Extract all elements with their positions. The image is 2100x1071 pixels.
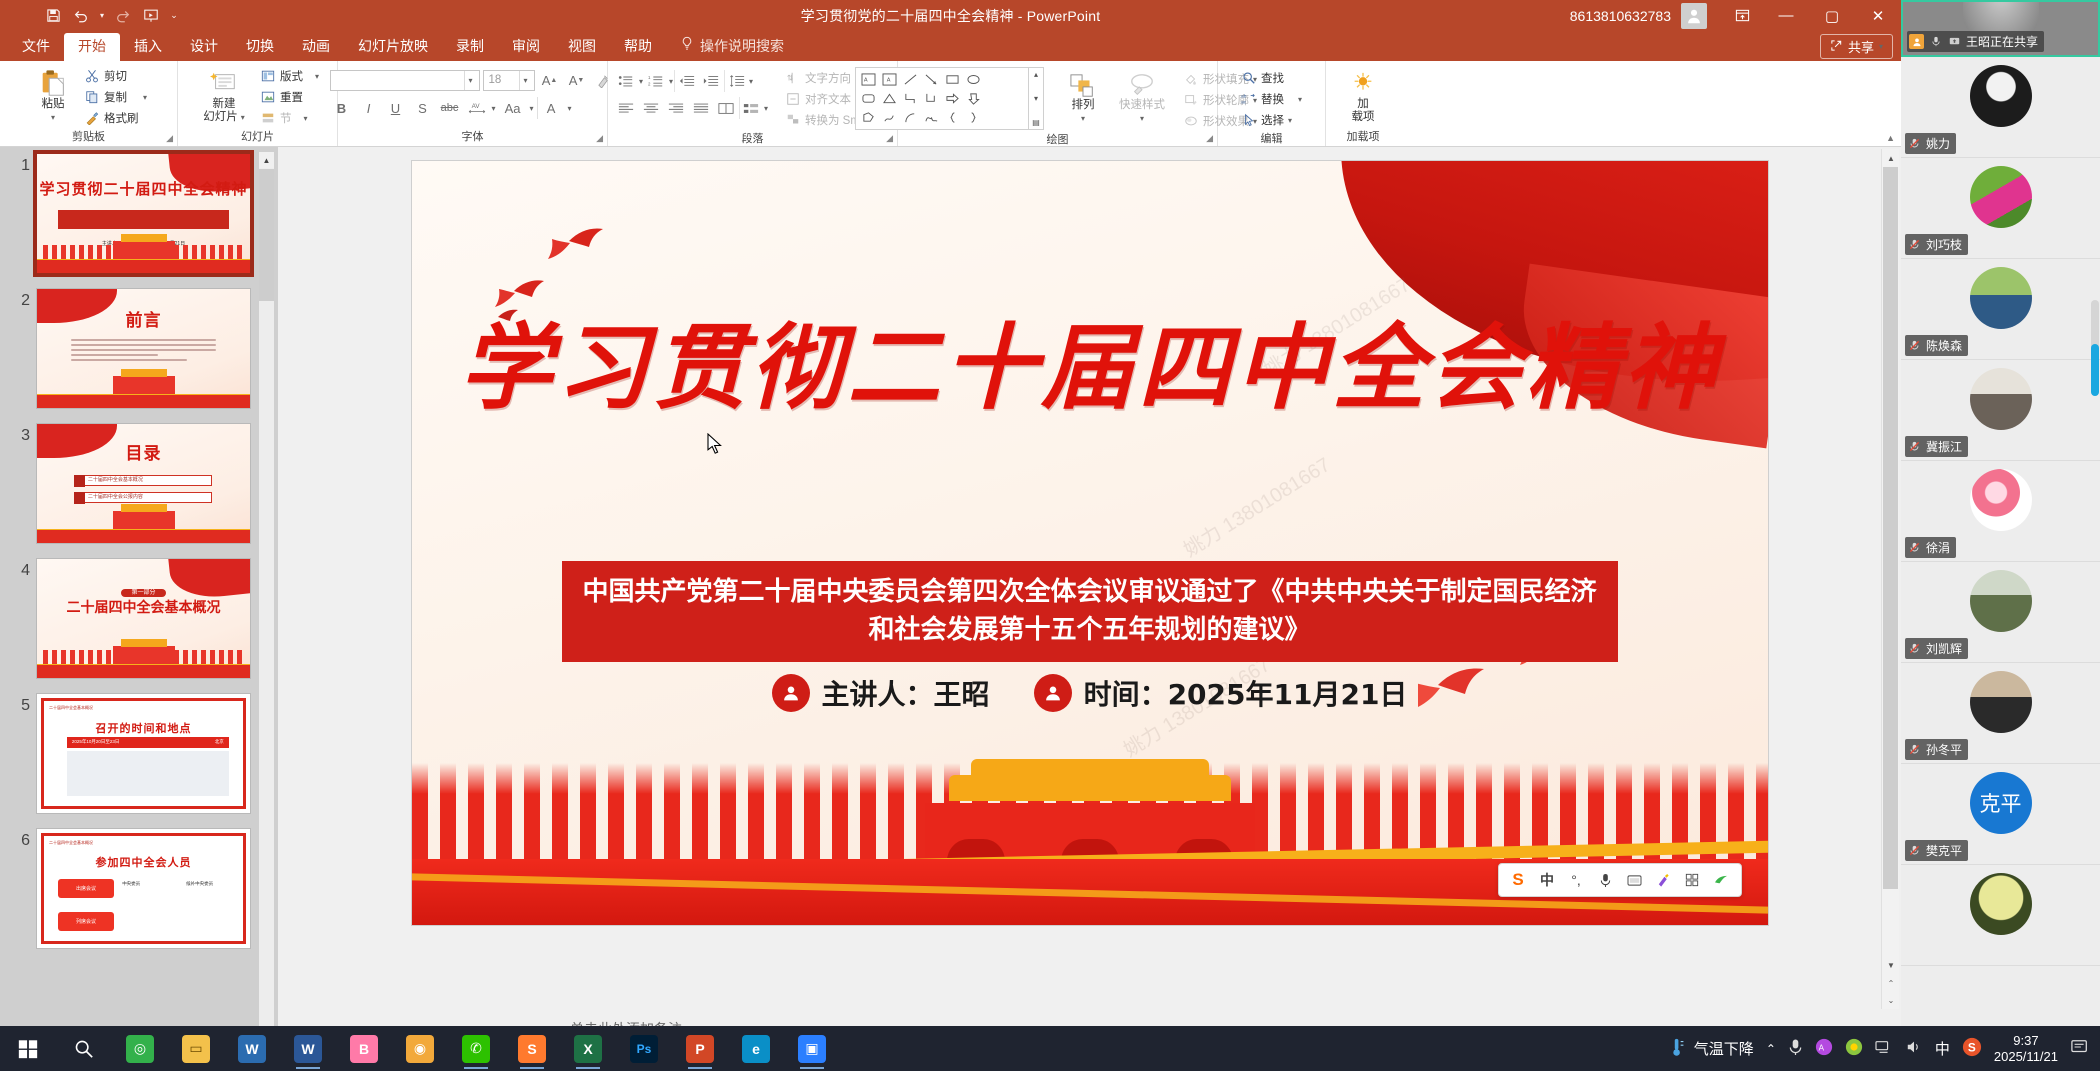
ribbon-group-font: ▾ 18 ▾ A▲ A▼ B I U [338, 61, 608, 146]
participant-tile[interactable]: 姚力 [1901, 57, 2100, 158]
maximize-button[interactable]: ▢ [1809, 0, 1855, 31]
speaker-info[interactable]: 主讲人：王昭 [772, 673, 990, 713]
thumbnail-slide-4[interactable]: 第一部分 二十届四中全会基本概况 [36, 558, 251, 679]
paragraph-dialog-launcher[interactable]: ◢ [886, 133, 893, 144]
browser-360-icon: ◎ [126, 1035, 154, 1063]
windows-taskbar: ◎ ▭ W W B ◉ ✆ S X [0, 1026, 2100, 1071]
shape-arc-icon[interactable] [900, 108, 921, 127]
sharing-label: 王昭正在共享 [1966, 33, 2038, 50]
shape-rectangle-icon[interactable] [942, 70, 963, 89]
thumbnail-slide-1[interactable]: 学习贯彻二十届四中全会精神 主讲人：王昭 时间：2025年11月21日 [36, 153, 251, 274]
new-slide-label-2: 幻灯片 [203, 111, 238, 124]
search-icon [70, 1035, 98, 1063]
shape-textbox-icon[interactable]: A [858, 70, 879, 89]
tab-view[interactable]: 视图 [554, 33, 610, 61]
reset-label: 重置 [280, 89, 303, 105]
shape-curve-icon[interactable] [921, 108, 942, 127]
avatar [1970, 873, 2032, 935]
more-shapes-icon[interactable]: ▤ [1032, 118, 1040, 127]
ribbon-group-addins: 加 载项 加载项 [1326, 61, 1400, 146]
scroll-up-icon[interactable]: ▲ [1884, 150, 1898, 166]
skin-icon[interactable] [1650, 867, 1677, 893]
format-painter-label: 格式刷 [104, 110, 139, 126]
participant-tag: 刘巧枝 [1905, 234, 1968, 255]
slide-editor-pane: 姚力 13801081667 姚力 13801081667 姚力 1380108… [278, 147, 1901, 1071]
participant-name: 徐涓 [1926, 539, 1950, 556]
volume-icon[interactable] [1905, 1039, 1923, 1058]
paste-button[interactable]: 粘贴 ▾ [27, 66, 79, 126]
taskbar-app-edge[interactable]: e [728, 1026, 784, 1071]
participant-tile[interactable]: 刘巧枝 [1901, 158, 2100, 259]
chevron-down-icon: ▾ [1879, 42, 1883, 51]
text-direction-icon: ⇅ [785, 70, 801, 86]
tab-transitions[interactable]: 切换 [232, 33, 288, 61]
scrollbar-thumb[interactable] [1883, 167, 1898, 889]
thumbnail-item[interactable]: 6 二十届四中全会基本概况 参加四中全会人员 出席会议 列席会议 中央委员 候补… [8, 828, 256, 949]
new-slide-label-1: 新建 [212, 98, 235, 111]
search-icon [1241, 70, 1257, 86]
shape-vertical-textbox-icon[interactable]: A [879, 70, 900, 89]
format-painter-icon [84, 110, 100, 126]
font-name-combo[interactable]: ▾ [330, 70, 480, 91]
decrease-indent-icon[interactable] [674, 70, 698, 92]
slide-subtitle[interactable]: 中国共产党第二十届中央委员会第四次全体会议审议通过了《中共中央关于制定国民经济和… [562, 561, 1618, 662]
participant-tag: 冀振江 [1905, 436, 1968, 457]
scrollbar-thumb[interactable] [2091, 344, 2099, 396]
layout-label: 版式 [280, 68, 303, 84]
edge-icon: e [742, 1035, 770, 1063]
group-label-clipboard: 剪贴板 ◢ [6, 128, 171, 146]
taskbar-clock[interactable]: 9:37 2025/11/21 [1994, 1033, 2058, 1065]
avatar [1970, 570, 2032, 632]
bilibili-icon: B [350, 1035, 378, 1063]
thumb5-title: 召开的时间和地点 [37, 720, 250, 736]
svg-text:A: A [864, 77, 868, 83]
drawing-dialog-launcher[interactable]: ◢ [1206, 133, 1213, 144]
group-label-slides: 幻灯片 [184, 128, 331, 146]
scrollbar-thumb[interactable] [259, 169, 274, 301]
thumb4-title: 二十届四中全会基本概况 [37, 597, 250, 617]
sogou-logo-icon[interactable]: S [1505, 867, 1532, 893]
search-button[interactable] [56, 1026, 112, 1071]
clock-date: 2025/11/21 [1994, 1049, 2058, 1065]
thumbnail-item[interactable]: 3 目录 二十届四中全会基本概况 二十届四中全会公报内容 [8, 423, 256, 544]
network-icon[interactable] [1875, 1039, 1893, 1058]
svg-text:A: A [1818, 1044, 1824, 1053]
thumbnail-slide-6[interactable]: 二十届四中全会基本概况 参加四中全会人员 出席会议 列席会议 中央委员 候补中央… [36, 828, 251, 949]
arrange-button[interactable]: 排列 ▾ [1056, 67, 1110, 127]
shape-line-icon[interactable] [900, 70, 921, 89]
addins-button[interactable]: 加 载项 [1337, 66, 1389, 126]
shape-rounded-rect-icon[interactable] [858, 89, 879, 108]
dove-decoration-icon [474, 213, 634, 323]
speaker-label: 主讲人：王昭 [822, 673, 990, 713]
title-bar-right: 8613810632783 — ▢ ✕ [1570, 0, 1901, 31]
group-label-addins: 加载项 [1332, 128, 1394, 146]
next-slide-icon[interactable]: ⌄ [1884, 992, 1898, 1008]
participant-name: 冀振江 [1926, 438, 1962, 455]
underline-icon[interactable]: U [384, 97, 408, 119]
thumb6-header: 二十届四中全会基本概况 [49, 840, 93, 846]
participant-tile[interactable]: 徐涓 [1901, 461, 2100, 562]
thumb5-bar-right: 北京 [215, 739, 224, 745]
antivirus-icon[interactable]: A [1815, 1038, 1833, 1059]
participant-tag: 孙冬平 [1905, 739, 1968, 760]
numbering-icon[interactable]: 12 [644, 70, 668, 92]
change-case-icon[interactable]: Aa [499, 97, 527, 119]
thumbnail-slide-3[interactable]: 目录 二十届四中全会基本概况 二十届四中全会公报内容 [36, 423, 251, 544]
new-slide-button[interactable]: 新建 幻灯片▾ [193, 66, 255, 126]
align-left-icon[interactable] [614, 97, 638, 119]
cut-label: 剪切 [104, 68, 127, 84]
mic-muted-icon [1907, 136, 1922, 151]
current-slide[interactable]: 姚力 13801081667 姚力 13801081667 姚力 1380108… [412, 161, 1768, 925]
360-icon[interactable] [1845, 1038, 1863, 1059]
find-label: 查找 [1261, 70, 1284, 86]
mic-muted-icon [1907, 237, 1922, 252]
avatar [1970, 267, 2032, 329]
new-slide-icon [209, 68, 239, 98]
cut-button[interactable]: 剪切 [81, 66, 150, 86]
participant-name: 孙冬平 [1926, 741, 1962, 758]
shape-right-brace-icon[interactable] [963, 108, 984, 127]
font-color-icon[interactable]: A [537, 97, 565, 119]
tab-file[interactable]: 文件 [8, 33, 64, 61]
copy-button[interactable]: 复制 ▾ [81, 87, 150, 107]
section-label: 节 [280, 110, 292, 126]
justify-icon[interactable] [689, 97, 713, 119]
participant-tile[interactable]: 刘凯辉 [1901, 562, 2100, 663]
shapes-scroll-controls[interactable]: ▴ ▾ ▤ [1029, 67, 1044, 130]
slide-title[interactable]: 学习贯彻二十届四中全会精神 [412, 321, 1768, 414]
group-label-editing: 编辑 [1224, 130, 1319, 148]
participant-tile[interactable]: 孙冬平 [1901, 663, 2100, 764]
taskbar-tray: 气温下降 ⌃ A 中 S 9:37 2025 [1669, 1026, 2100, 1071]
thumb6-tag-1: 出席会议 [58, 879, 113, 898]
redo-icon[interactable] [110, 4, 136, 28]
columns-icon[interactable] [714, 97, 738, 119]
thumbnail-number: 3 [8, 423, 30, 445]
quick-styles-icon [1127, 69, 1157, 99]
time-info[interactable]: 时间：2025年11月21日 [1034, 673, 1408, 713]
emoji-icon[interactable] [1708, 867, 1735, 893]
thumb6-title: 参加四中全会人员 [37, 854, 250, 870]
browser-icon: ◉ [406, 1035, 434, 1063]
avatar [1970, 671, 2032, 733]
tencent-meeting-icon: ▣ [798, 1035, 826, 1063]
windows-logo-icon [14, 1035, 42, 1063]
tab-insert[interactable]: 插入 [120, 33, 176, 61]
undo-dropdown-icon[interactable]: ▾ [96, 4, 108, 28]
participant-tile[interactable] [1901, 865, 2100, 966]
ribbon: 粘贴 ▾ 剪切 复制 ▾ [0, 61, 1901, 147]
share-button[interactable]: 共享 ▾ [1820, 34, 1893, 59]
slide-thumbnails-pane[interactable]: 1 学习贯彻二十届四中全会精神 主讲人：王昭 时间：2025年11月21日 [0, 147, 278, 1071]
ribbon-display-options-icon[interactable] [1721, 0, 1763, 31]
thumb6-tag-2: 列席会议 [58, 912, 113, 931]
taskbar-app-file-explorer[interactable]: ▭ [168, 1026, 224, 1071]
shape-arrow-icon[interactable] [921, 70, 942, 89]
customize-qat-icon[interactable]: ⌄ [166, 4, 182, 28]
shape-oval-icon[interactable] [963, 70, 984, 89]
thumb6-l2: 候补中央委员 [186, 881, 213, 887]
grid-icon[interactable] [1679, 867, 1706, 893]
taskbar-app-wps[interactable]: W [224, 1026, 280, 1071]
taskbar-app-wechat[interactable]: ✆ [448, 1026, 504, 1071]
file-explorer-icon: ▭ [182, 1035, 210, 1063]
chevron-down-icon[interactable]: ▾ [1034, 94, 1038, 103]
thumbnail-number: 1 [8, 153, 30, 175]
thumbnail-number: 2 [8, 288, 30, 310]
close-button[interactable]: ✕ [1855, 0, 1901, 31]
tab-design[interactable]: 设计 [176, 33, 232, 61]
svg-text:1: 1 [648, 75, 651, 80]
collapse-ribbon-icon[interactable]: ▲ [1886, 133, 1895, 143]
participants-scrollbar[interactable] [2091, 300, 2099, 396]
slide-meta: 主讲人：王昭 时间：2025年11月21日 [412, 673, 1768, 713]
chevron-up-icon[interactable]: ▴ [1034, 70, 1038, 79]
tab-record[interactable]: 录制 [442, 33, 498, 61]
account-name: 8613810632783 [1570, 8, 1671, 24]
sogou-icon: S [518, 1035, 546, 1063]
replace-button[interactable]: abac 替换 ▾ [1238, 89, 1305, 109]
chevron-up-icon[interactable]: ⌃ [1766, 1042, 1776, 1056]
scissors-icon [84, 68, 100, 84]
ime-indicator[interactable]: 中 [1935, 1038, 1950, 1059]
thumbnail-item[interactable]: 1 学习贯彻二十届四中全会精神 主讲人：王昭 时间：2025年11月21日 [8, 153, 256, 274]
participant-tile[interactable]: 陈焕森 [1901, 259, 2100, 360]
select-button[interactable]: 选择 ▾ [1238, 110, 1305, 130]
start-button[interactable] [0, 1026, 56, 1071]
tab-help[interactable]: 帮助 [610, 33, 666, 61]
wps-icon: W [238, 1035, 266, 1063]
mic-muted-icon [1907, 439, 1922, 454]
lightbulb-icon [680, 36, 694, 55]
participant-name: 樊克平 [1926, 842, 1962, 859]
find-button[interactable]: 查找 [1238, 68, 1305, 88]
keyboard-icon[interactable] [1621, 867, 1648, 893]
scroll-up-icon[interactable]: ▲ [259, 152, 274, 168]
weather-widget[interactable]: 气温下降 [1669, 1037, 1754, 1061]
shapes-gallery[interactable]: A A [855, 67, 1029, 130]
svg-text:⇅: ⇅ [787, 74, 794, 83]
minimize-button[interactable]: — [1763, 0, 1809, 31]
participant-tag: 徐涓 [1905, 537, 1956, 558]
sogou-tray-icon[interactable]: S [1962, 1037, 1982, 1060]
select-icon [1241, 112, 1257, 128]
ime-floating-toolbar[interactable]: S 中 °, [1498, 863, 1742, 897]
character-spacing-icon[interactable]: AV [465, 97, 489, 119]
reset-button[interactable]: 重置 [257, 87, 322, 107]
copy-label: 复制 [104, 89, 127, 105]
screen-share-tile[interactable]: 王昭正在共享 [1901, 0, 2100, 57]
shape-connector-icon[interactable] [921, 89, 942, 108]
mic-icon [1928, 34, 1943, 49]
line-spacing-icon[interactable] [724, 70, 748, 92]
taskbar-app-word[interactable]: W [280, 1026, 336, 1071]
smartart-convert-icon[interactable] [739, 97, 763, 119]
align-center-icon[interactable] [639, 97, 663, 119]
avatar-initials: 克平 [1980, 788, 2022, 818]
strikethrough-icon[interactable]: abc [438, 97, 462, 119]
thumbnail-item[interactable]: 5 二十届四中全会基本概况 召开的时间和地点 2025年10月20日至23日 北… [8, 693, 256, 814]
thumb2-title: 前言 [37, 306, 250, 331]
mic-muted-icon [1907, 742, 1922, 757]
mic-muted-icon [1907, 641, 1922, 656]
share-icon [1830, 39, 1843, 55]
chinese-mode-icon[interactable]: 中 [1534, 867, 1561, 893]
replace-icon: abac [1241, 91, 1257, 107]
copy-icon [84, 89, 100, 105]
avatar [1970, 65, 2032, 127]
thumbnail-number: 5 [8, 693, 30, 715]
increase-indent-icon[interactable] [699, 70, 723, 92]
participant-tile[interactable]: 冀振江 [1901, 360, 2100, 461]
powerpoint-window: ▾ ⌄ 学习贯彻党的二十届四中全会精神 - PowerPoint 8613810… [0, 0, 1901, 1071]
avatar [1970, 469, 2032, 531]
shape-right-arrow-icon[interactable] [942, 89, 963, 108]
taskbar-app-browser[interactable]: ◉ [392, 1026, 448, 1071]
arrange-icon [1069, 69, 1097, 99]
shape-freeform-icon[interactable] [858, 108, 879, 127]
word-icon: W [294, 1035, 322, 1063]
excel-icon: X [574, 1035, 602, 1063]
text-direction-label: 文字方向 [805, 70, 851, 86]
chevron-down-icon: ▾ [519, 71, 532, 90]
person-icon [772, 674, 810, 712]
taskbar-app-photoshop[interactable]: Ps [616, 1026, 672, 1071]
title-bar: ▾ ⌄ 学习贯彻党的二十届四中全会精神 - PowerPoint 8613810… [0, 0, 1901, 31]
slide-vertical-scrollbar[interactable]: ▲ ▼ ⌃ ⌄ [1881, 149, 1899, 1009]
taskbar-app-powerpoint[interactable]: P [672, 1026, 728, 1071]
tell-me-label: 操作说明搜索 [700, 37, 784, 55]
svg-text:2: 2 [648, 81, 651, 86]
thumbnail-number: 4 [8, 558, 30, 580]
notification-icon[interactable] [2070, 1038, 2090, 1059]
avatar [1970, 166, 2032, 228]
align-right-icon[interactable] [664, 97, 688, 119]
wechat-icon: ✆ [462, 1035, 490, 1063]
thumbnail-item[interactable]: 4 第一部分 二十届四中全会基本概况 [8, 558, 256, 679]
font-size-combo[interactable]: 18 ▾ [483, 70, 535, 91]
undo-icon[interactable] [68, 4, 94, 28]
chevron-down-icon: ▾ [464, 71, 477, 90]
ribbon-group-drawing: A A [898, 61, 1218, 146]
ribbon-group-slides: 新建 幻灯片▾ 版式 ▾ 重置 [178, 61, 338, 146]
thumb6-l1: 中央委员 [122, 881, 140, 887]
tab-home[interactable]: 开始 [64, 33, 120, 61]
shape-triangle-icon[interactable] [879, 89, 900, 108]
thumb1-title: 学习贯彻二十届四中全会精神 [37, 178, 250, 199]
svg-text:AV: AV [471, 103, 480, 110]
tab-animations[interactable]: 动画 [288, 33, 344, 61]
mic-icon[interactable] [1592, 867, 1619, 893]
group-label-font: 字体 ◢ [344, 128, 601, 146]
shape-outline-icon [1183, 92, 1199, 108]
ribbon-group-clipboard: 粘贴 ▾ 剪切 复制 ▾ [0, 61, 178, 146]
avatar: 克平 [1970, 772, 2032, 834]
participant-name: 陈焕森 [1926, 337, 1962, 354]
thumb3-title: 目录 [37, 439, 250, 464]
participant-tag: 樊克平 [1905, 840, 1968, 861]
shape-scribble-icon[interactable] [879, 108, 900, 127]
participant-name: 刘巧枝 [1926, 236, 1962, 253]
section-button[interactable]: 节 ▾ [257, 108, 322, 128]
save-icon[interactable] [40, 4, 66, 28]
mic-muted-icon [1907, 843, 1922, 858]
thumbnail-slide-5[interactable]: 二十届四中全会基本概况 召开的时间和地点 2025年10月20日至23日 北京 [36, 693, 251, 814]
section-icon [260, 110, 276, 126]
quick-access-toolbar: ▾ ⌄ [0, 4, 182, 28]
thumbnails-scrollbar[interactable]: ▲ ▼ [258, 151, 275, 1067]
thumbnail-slide-2[interactable]: 前言 [36, 288, 251, 409]
taskbar-app-excel[interactable]: X [560, 1026, 616, 1071]
shape-down-arrow-icon[interactable] [963, 89, 984, 108]
tab-review[interactable]: 审阅 [498, 33, 554, 61]
shape-elbow-connector-icon[interactable] [900, 89, 921, 108]
tell-me-search[interactable]: 操作说明搜索 [666, 32, 798, 61]
paste-icon [38, 68, 68, 98]
start-slideshow-icon[interactable] [138, 4, 164, 28]
ribbon-group-editing: 查找 abac 替换 ▾ 选择 ▾ 编辑 [1218, 61, 1326, 146]
chevron-down-icon[interactable]: ▾ [143, 93, 147, 102]
sharing-tag: 王昭正在共享 [1907, 31, 2044, 52]
taskbar-app-bilibili[interactable]: B [336, 1026, 392, 1071]
quick-styles-button[interactable]: 快速样式 ▾ [1112, 67, 1172, 127]
text-shadow-icon[interactable]: S [411, 97, 435, 119]
account-avatar[interactable] [1681, 3, 1707, 29]
punctuation-icon[interactable]: °, [1563, 867, 1590, 893]
group-label-paragraph: 段落 ◢ [614, 130, 891, 148]
taskbar-app-360browser[interactable]: ◎ [112, 1026, 168, 1071]
previous-slide-icon[interactable]: ⌃ [1884, 975, 1898, 991]
thumb3-toc-1: 二十届四中全会基本概况 [84, 475, 212, 486]
thumbnail-item[interactable]: 2 前言 [8, 288, 256, 409]
participant-name: 刘凯辉 [1926, 640, 1962, 657]
svg-text:ac: ac [1242, 100, 1248, 105]
italic-icon[interactable]: I [357, 97, 381, 119]
clipboard-dialog-launcher[interactable]: ◢ [166, 133, 173, 144]
participant-tag: 姚力 [1905, 133, 1956, 154]
taskbar-app-tencent-meeting[interactable]: ▣ [784, 1026, 840, 1071]
taskbar-app-sogou[interactable]: S [504, 1026, 560, 1071]
bold-icon[interactable]: B [330, 97, 354, 119]
photoshop-icon: Ps [630, 1035, 658, 1063]
bullets-icon[interactable] [614, 70, 638, 92]
shape-left-brace-icon[interactable] [942, 108, 963, 127]
svg-text:ab: ab [1242, 93, 1248, 99]
font-dialog-launcher[interactable]: ◢ [596, 133, 603, 144]
participant-tag: 陈焕森 [1905, 335, 1968, 356]
clock-time: 9:37 [1994, 1033, 2058, 1049]
grow-font-icon[interactable]: A▲ [538, 69, 562, 91]
taskbar-apps: ◎ ▭ W W B ◉ ✆ S X [0, 1026, 840, 1071]
meeting-participants-panel[interactable]: 王昭正在共享 姚力 刘巧枝 [1901, 0, 2100, 1026]
shrink-font-icon[interactable]: A▼ [565, 69, 589, 91]
tab-slideshow[interactable]: 幻灯片放映 [344, 33, 442, 61]
weather-label: 气温下降 [1694, 1038, 1754, 1059]
participant-tile[interactable]: 克平 樊克平 [1901, 764, 2100, 865]
layout-button[interactable]: 版式 ▾ [257, 66, 322, 86]
time-label: 时间：2025年11月21日 [1084, 673, 1408, 713]
scroll-down-icon[interactable]: ▼ [1884, 957, 1898, 973]
align-text-label: 对齐文本 [805, 91, 851, 107]
host-icon [1909, 34, 1924, 49]
font-size-value: 18 [489, 74, 519, 86]
mic-icon[interactable] [1788, 1038, 1803, 1059]
format-painter-button[interactable]: 格式刷 [81, 108, 150, 128]
addins-label-1: 加 [1357, 98, 1369, 111]
